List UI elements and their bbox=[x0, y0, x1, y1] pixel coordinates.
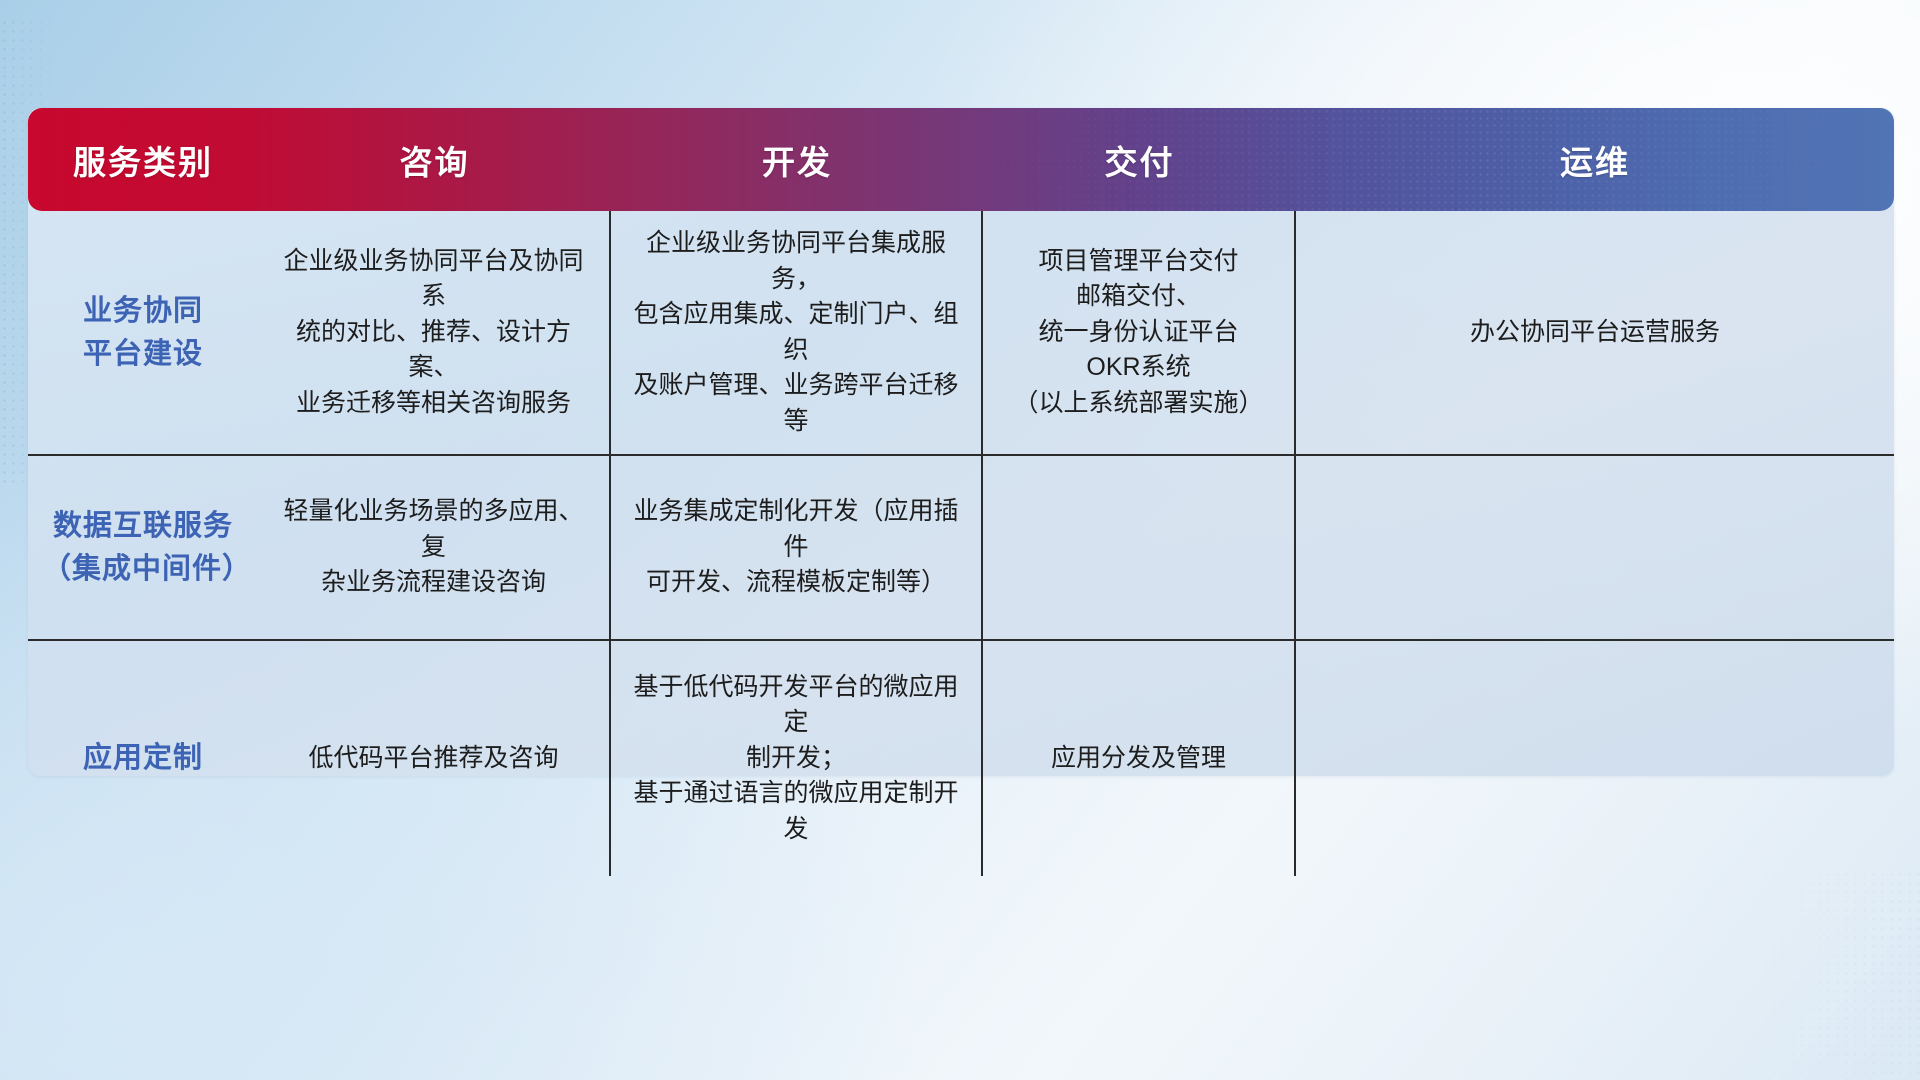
cell-text: 业务集成定制化开发（应用插件可开发、流程模板定制等） bbox=[625, 494, 967, 601]
table-row: 应用定制 低代码平台推荐及咨询 基于低代码开发平台的微应用定制开发；基于通过语言… bbox=[28, 641, 1894, 876]
cell-development: 业务集成定制化开发（应用插件可开发、流程模板定制等） bbox=[611, 456, 983, 639]
category-label: 业务协同平台建设 bbox=[83, 290, 203, 374]
column-header-category: 服务类别 bbox=[28, 136, 258, 184]
column-header-operations: 运维 bbox=[1296, 136, 1894, 184]
cell-category: 业务协同平台建设 bbox=[28, 211, 258, 454]
cell-consulting: 企业级业务协同平台及协同系统的对比、推荐、设计方案、业务迁移等相关咨询服务 bbox=[258, 211, 611, 454]
cell-text: 应用分发及管理 bbox=[1051, 741, 1226, 777]
cell-text: 轻量化业务场景的多应用、复杂业务流程建设咨询 bbox=[272, 494, 595, 601]
cell-operations bbox=[1296, 641, 1894, 876]
cell-text: 企业级业务协同平台集成服务，包含应用集成、定制门户、组织及账户管理、业务跨平台迁… bbox=[625, 226, 967, 439]
cell-development: 企业级业务协同平台集成服务，包含应用集成、定制门户、组织及账户管理、业务跨平台迁… bbox=[611, 211, 983, 454]
cell-text: 低代码平台推荐及咨询 bbox=[308, 741, 558, 777]
category-label: 数据互联服务（集成中间件） bbox=[42, 505, 244, 589]
column-header-consulting: 咨询 bbox=[258, 136, 611, 184]
cell-delivery bbox=[983, 456, 1296, 639]
table-header-row: 服务类别 咨询 开发 交付 运维 bbox=[28, 108, 1894, 211]
cell-delivery: 应用分发及管理 bbox=[983, 641, 1296, 876]
service-category-table: 服务类别 咨询 开发 交付 运维 业务协同平台建设 企业级业务协同平台及协同系统… bbox=[28, 108, 1894, 776]
table-row: 业务协同平台建设 企业级业务协同平台及协同系统的对比、推荐、设计方案、业务迁移等… bbox=[28, 211, 1894, 456]
cell-category: 应用定制 bbox=[28, 641, 258, 876]
cell-operations bbox=[1296, 456, 1894, 639]
column-header-delivery: 交付 bbox=[983, 136, 1296, 184]
background-dot-texture-right bbox=[1680, 870, 1920, 1080]
column-header-development: 开发 bbox=[611, 136, 983, 184]
cell-development: 基于低代码开发平台的微应用定制开发；基于通过语言的微应用定制开发 bbox=[611, 641, 983, 876]
cell-text: 基于低代码开发平台的微应用定制开发；基于通过语言的微应用定制开发 bbox=[625, 670, 967, 848]
cell-delivery: 项目管理平台交付邮箱交付、统一身份认证平台OKR系统（以上系统部署实施） bbox=[983, 211, 1296, 454]
cell-text: 办公协同平台运营服务 bbox=[1470, 315, 1720, 351]
cell-text: 项目管理平台交付邮箱交付、统一身份认证平台OKR系统（以上系统部署实施） bbox=[1013, 244, 1263, 422]
cell-category: 数据互联服务（集成中间件） bbox=[28, 456, 258, 639]
cell-consulting: 轻量化业务场景的多应用、复杂业务流程建设咨询 bbox=[258, 456, 611, 639]
category-label: 应用定制 bbox=[83, 737, 203, 779]
cell-operations: 办公协同平台运营服务 bbox=[1296, 211, 1894, 454]
cell-text: 企业级业务协同平台及协同系统的对比、推荐、设计方案、业务迁移等相关咨询服务 bbox=[272, 244, 595, 422]
table-body: 业务协同平台建设 企业级业务协同平台及协同系统的对比、推荐、设计方案、业务迁移等… bbox=[28, 211, 1894, 776]
cell-consulting: 低代码平台推荐及咨询 bbox=[258, 641, 611, 876]
table-row: 数据互联服务（集成中间件） 轻量化业务场景的多应用、复杂业务流程建设咨询 业务集… bbox=[28, 456, 1894, 641]
